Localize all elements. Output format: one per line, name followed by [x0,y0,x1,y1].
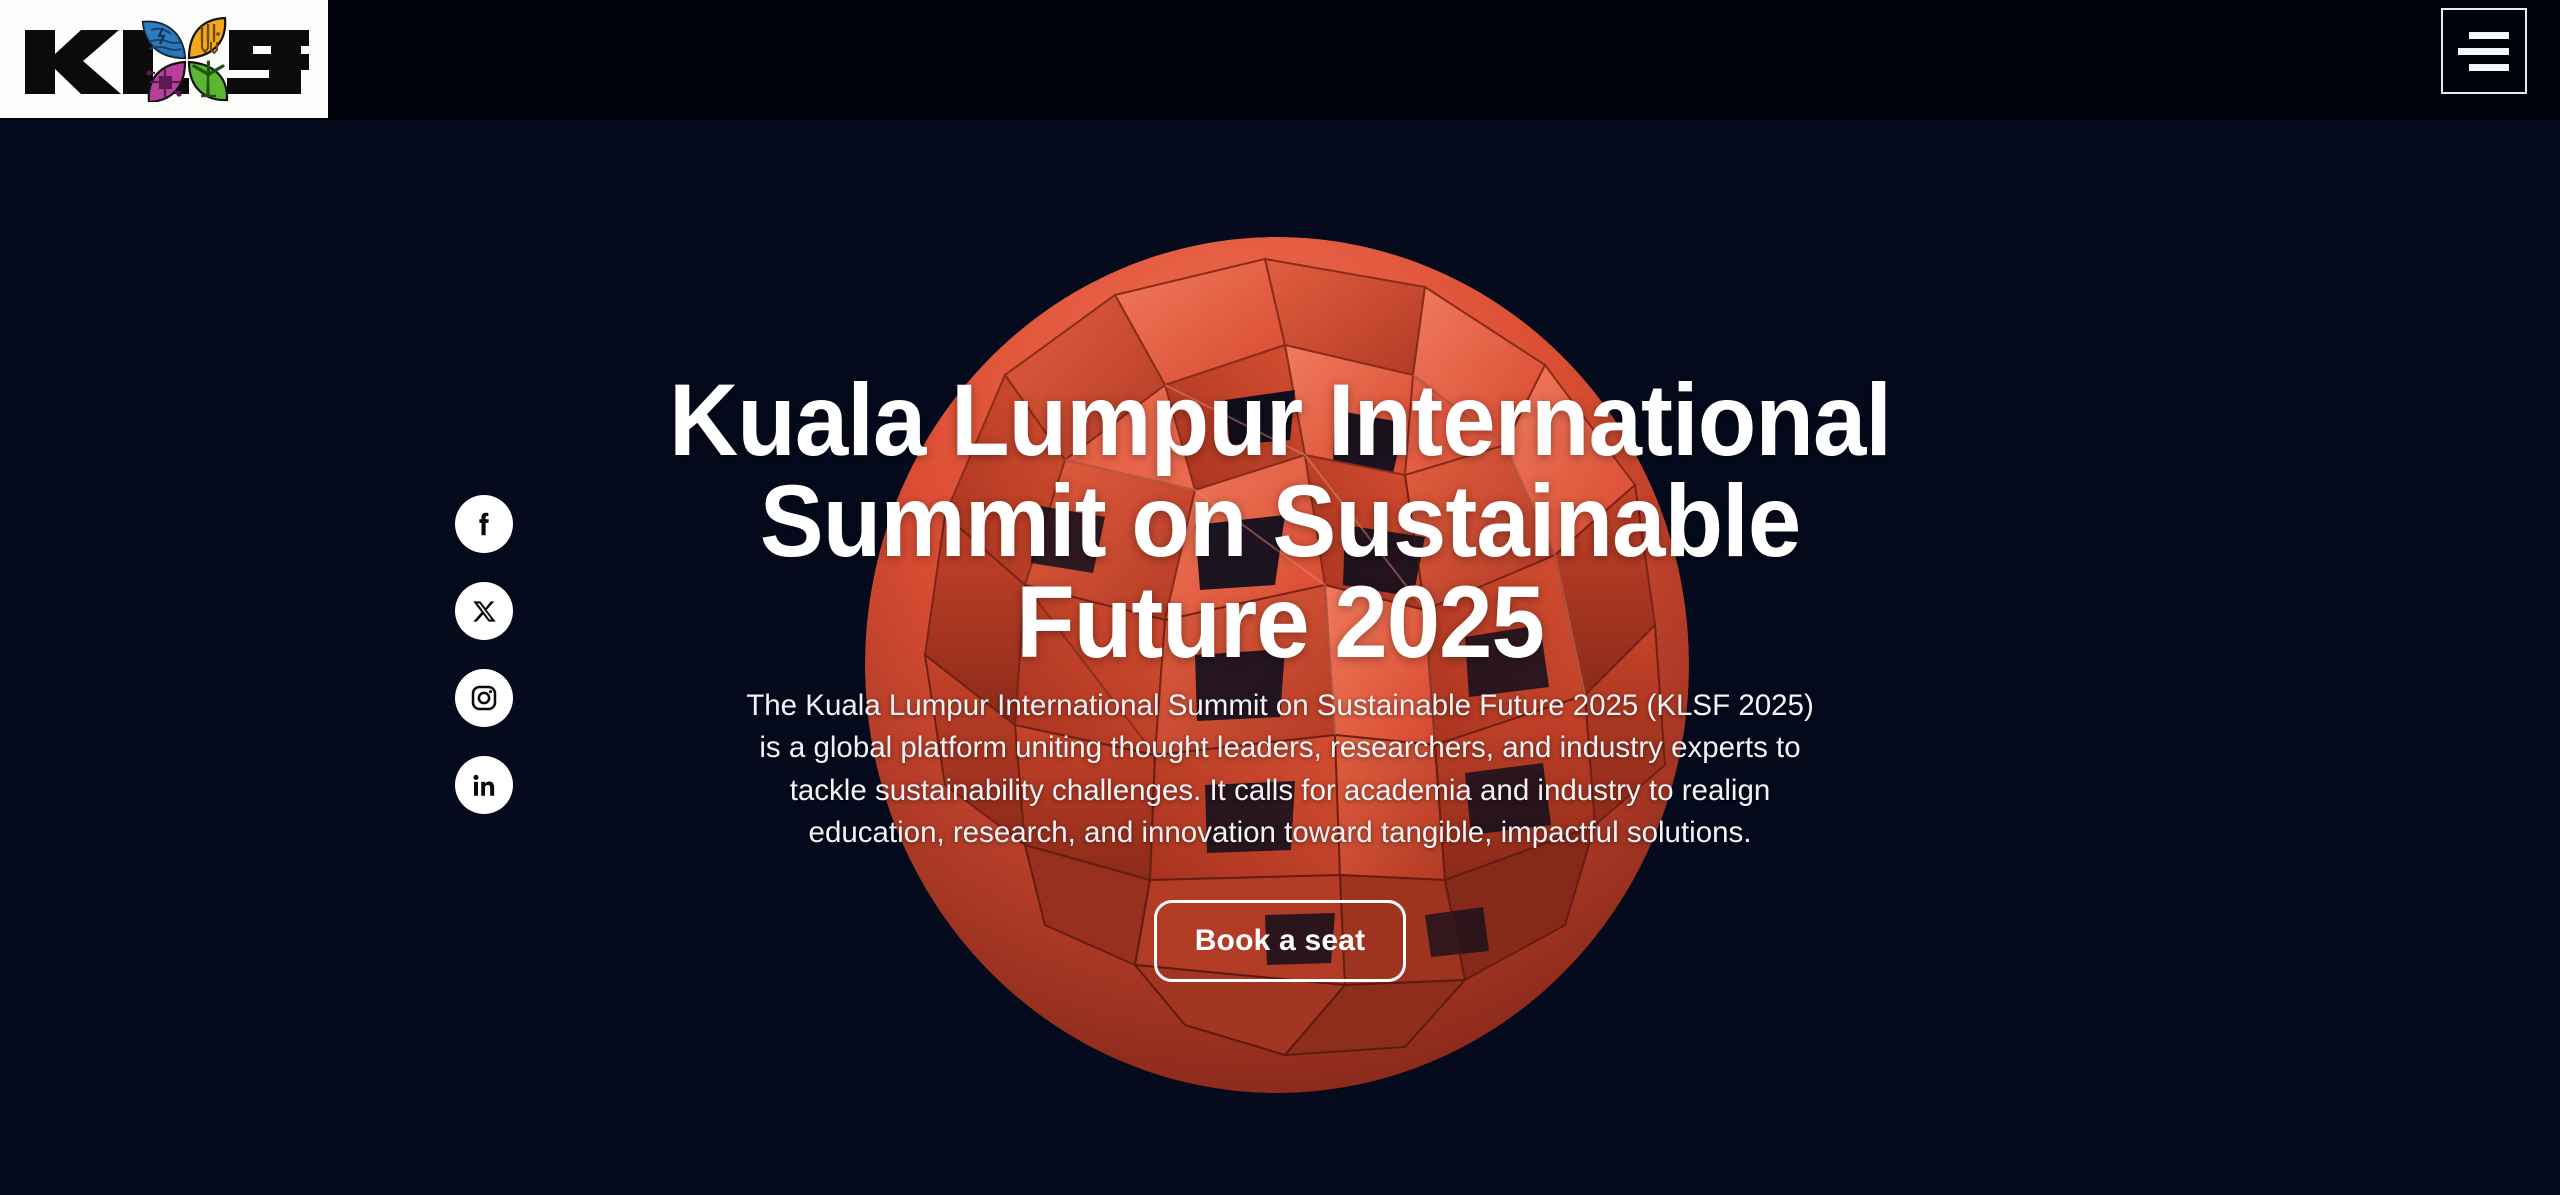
klsf-logo-icon [19,16,309,102]
social-link-facebook[interactable] [455,495,513,553]
social-link-linkedin[interactable] [455,756,513,814]
hamburger-menu-button[interactable] [2441,8,2527,94]
hero-content: Kuala Lumpur International Summit on Sus… [600,120,1960,1195]
facebook-icon [469,509,499,539]
page-title: Kuala Lumpur International Summit on Sus… [641,370,1919,673]
book-a-seat-button[interactable]: Book a seat [1154,900,1406,982]
logo[interactable] [0,0,328,118]
x-twitter-icon [471,598,498,625]
hamburger-icon-line-2 [2458,48,2509,55]
page-root: Kuala Lumpur International Summit on Sus… [0,0,2560,1195]
hamburger-icon-line-3 [2469,64,2509,71]
hero-section: Kuala Lumpur International Summit on Sus… [0,120,2560,1195]
hamburger-icon-line-1 [2469,32,2509,39]
logo-wrap [19,16,309,102]
social-link-x-twitter[interactable] [455,582,513,640]
social-link-instagram[interactable] [455,669,513,727]
site-header [0,0,2560,120]
linkedin-icon [470,771,499,800]
cta-wrapper: Book a seat [1154,900,1406,982]
social-links [455,495,513,814]
hero-description: The Kuala Lumpur International Summit on… [740,685,1820,855]
instagram-icon [469,683,499,713]
